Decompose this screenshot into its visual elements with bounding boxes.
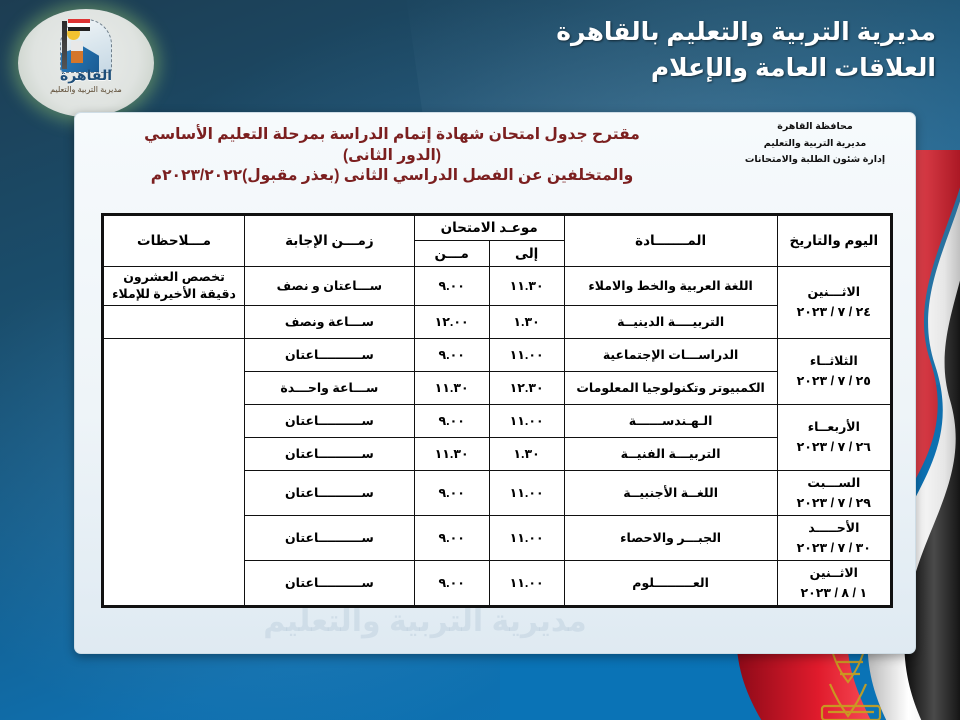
cell-date: الاثــنين١ / ٨ / ٢٠٢٣: [777, 560, 891, 606]
cell-day: الثلاثــاء: [781, 351, 887, 371]
cell-duration: ســــــــــاعتان: [245, 437, 415, 470]
cell-day: الأحـــــد: [781, 518, 887, 538]
table-body: الاثـــنين٢٤ / ٧ / ٢٠٢٣اللغة العربية وال…: [103, 267, 892, 607]
cell-duration: ســـاعة ونصف: [245, 305, 415, 338]
th-to: إلى: [489, 241, 564, 267]
cell-notes: [103, 305, 245, 338]
issuer-line-3: إدارة شئون الطلبة والامتحانات: [725, 152, 905, 169]
cell-time-to: ١١.٠٠: [489, 560, 564, 606]
th-from: مـــن: [414, 241, 489, 267]
slide-canvas: القاهرة مديرية التربية والتعليم مديرية ا…: [0, 0, 960, 720]
cell-notes: تخصص العشرون دقيقة الأخيرة للإملاء: [103, 267, 245, 306]
cell-time-to: ١١.٠٠: [489, 338, 564, 371]
cell-subject: الجبـــر والاحصاء: [564, 515, 777, 560]
cell-subject: الـهـندســــــة: [564, 404, 777, 437]
cell-day: الاثــنين: [781, 563, 887, 583]
cell-date-value: ٢٩ / ٧ / ٢٠٢٣: [781, 493, 887, 513]
issuer-line-1: محافظة القاهرة: [725, 119, 905, 136]
cell-date: الثلاثــاء٢٥ / ٧ / ٢٠٢٣: [777, 338, 891, 404]
cell-date-value: ٢٥ / ٧ / ٢٠٢٣: [781, 371, 887, 391]
header-line-2: العلاقات العامة والإعلام: [556, 50, 936, 86]
cell-duration: ســــــــــاعتان: [245, 338, 415, 371]
cell-duration: ســــــــــاعتان: [245, 470, 415, 515]
cell-time-to: ١.٣٠: [489, 305, 564, 338]
cell-duration: ســــــــــاعتان: [245, 404, 415, 437]
cell-time-to: ١١.٠٠: [489, 515, 564, 560]
cell-time-from: ١٢.٠٠: [414, 305, 489, 338]
cell-time-from: ٩.٠٠: [414, 267, 489, 306]
cell-subject: التربيـــة الفنيــة: [564, 437, 777, 470]
cell-day: الســـبت: [781, 473, 887, 493]
table-head: اليوم والتاريخ المـــــــادة موعـد الامت…: [103, 215, 892, 267]
cell-day: الأربعــاء: [781, 417, 887, 437]
cell-date: الأربعــاء٢٦ / ٧ / ٢٠٢٣: [777, 404, 891, 470]
issuer-block: محافظة القاهرة مديرية التربية والتعليم إ…: [725, 119, 905, 169]
cell-time-to: ١١.٣٠: [489, 267, 564, 306]
table-row: الاثـــنين٢٤ / ٧ / ٢٠٢٣اللغة العربية وال…: [103, 267, 892, 306]
cell-subject: العـــــــــلوم: [564, 560, 777, 606]
schedule-table-wrapper: اليوم والتاريخ المـــــــادة موعـد الامت…: [101, 213, 893, 608]
cell-time-to: ١٢.٣٠: [489, 371, 564, 404]
cell-duration: ســــــــــاعتان: [245, 560, 415, 606]
th-duration: زمـــن الإجابة: [245, 215, 415, 267]
cell-date-value: ٣٠ / ٧ / ٢٠٢٣: [781, 538, 887, 558]
cell-date-value: ٢٤ / ٧ / ٢٠٢٣: [781, 302, 887, 322]
cell-day: الاثـــنين: [781, 282, 887, 302]
header-line-1: مديرية التربية والتعليم بالقاهرة: [556, 14, 936, 50]
egypt-flag-icon: [68, 19, 90, 31]
cell-time-to: ١١.٠٠: [489, 404, 564, 437]
cell-duration: ســـاعتان و نصف: [245, 267, 415, 306]
cell-notes-merged: [103, 338, 245, 606]
cell-duration: ســـاعة واحـــدة: [245, 371, 415, 404]
book-icon: [71, 41, 83, 63]
cell-date: الأحـــــد٣٠ / ٧ / ٢٠٢٣: [777, 515, 891, 560]
issuer-line-2: مديرية التربية والتعليم: [725, 136, 905, 153]
cell-subject: التربيــــة الدينيــة: [564, 305, 777, 338]
cell-subject: اللغــة الأجنبيــة: [564, 470, 777, 515]
cell-time-from: ٩.٠٠: [414, 560, 489, 606]
cell-time-from: ١١.٣٠: [414, 437, 489, 470]
header-row-top: اليوم والتاريخ المـــــــادة موعـد الامت…: [103, 215, 892, 241]
logo-artwork: القاهرة مديرية التربية والتعليم: [38, 17, 134, 109]
cairo-education-logo: القاهرة مديرية التربية والتعليم: [18, 9, 154, 117]
th-date: اليوم والتاريخ: [777, 215, 891, 267]
table-row: الثلاثــاء٢٥ / ٧ / ٢٠٢٣الدراســـات الإجت…: [103, 338, 892, 371]
logo-title: القاهرة: [38, 67, 134, 84]
cell-time-from: ٩.٠٠: [414, 404, 489, 437]
cell-date: الاثـــنين٢٤ / ٧ / ٢٠٢٣: [777, 267, 891, 339]
title-line-3: والمتخلفين عن الفصل الدراسي الثانى (بعذر…: [87, 166, 697, 187]
document-card: مديرية التربية والتعليم محافظة القاهرة م…: [74, 112, 916, 654]
th-notes: مـــلاحظات: [103, 215, 245, 267]
cell-time-from: ٩.٠٠: [414, 470, 489, 515]
slide-header: مديرية التربية والتعليم بالقاهرة العلاقا…: [556, 14, 936, 87]
cell-subject: الكمبيوتر وتكنولوجيا المعلومات: [564, 371, 777, 404]
cell-time-from: ٩.٠٠: [414, 338, 489, 371]
cell-duration: ســــــــــاعتان: [245, 515, 415, 560]
document-title: مقترح جدول امتحان شهادة إتمام الدراسة بم…: [87, 125, 697, 187]
title-line-2: (الدور الثانى): [87, 146, 697, 167]
th-exam-time: موعـد الامتحان: [414, 215, 564, 241]
exam-schedule-table: اليوم والتاريخ المـــــــادة موعـد الامت…: [101, 213, 893, 608]
watermark-text: مديرية التربية والتعليم: [115, 604, 735, 639]
cell-subject: الدراســـات الإجتماعية: [564, 338, 777, 371]
logo-subtitle: مديرية التربية والتعليم: [38, 85, 134, 94]
cell-time-to: ١.٣٠: [489, 437, 564, 470]
cell-time-to: ١١.٠٠: [489, 470, 564, 515]
cell-date-value: ٢٦ / ٧ / ٢٠٢٣: [781, 437, 887, 457]
table-row: التربيــــة الدينيــة١.٣٠١٢.٠٠ســـاعة ون…: [103, 305, 892, 338]
cell-date-value: ١ / ٨ / ٢٠٢٣: [781, 583, 887, 603]
th-subject: المـــــــادة: [564, 215, 777, 267]
title-line-1: مقترح جدول امتحان شهادة إتمام الدراسة بم…: [87, 125, 697, 146]
cell-subject: اللغة العربية والخط والاملاء: [564, 267, 777, 306]
pen-icon: [62, 21, 67, 69]
cell-time-from: ١١.٣٠: [414, 371, 489, 404]
cell-time-from: ٩.٠٠: [414, 515, 489, 560]
cell-date: الســـبت٢٩ / ٧ / ٢٠٢٣: [777, 470, 891, 515]
